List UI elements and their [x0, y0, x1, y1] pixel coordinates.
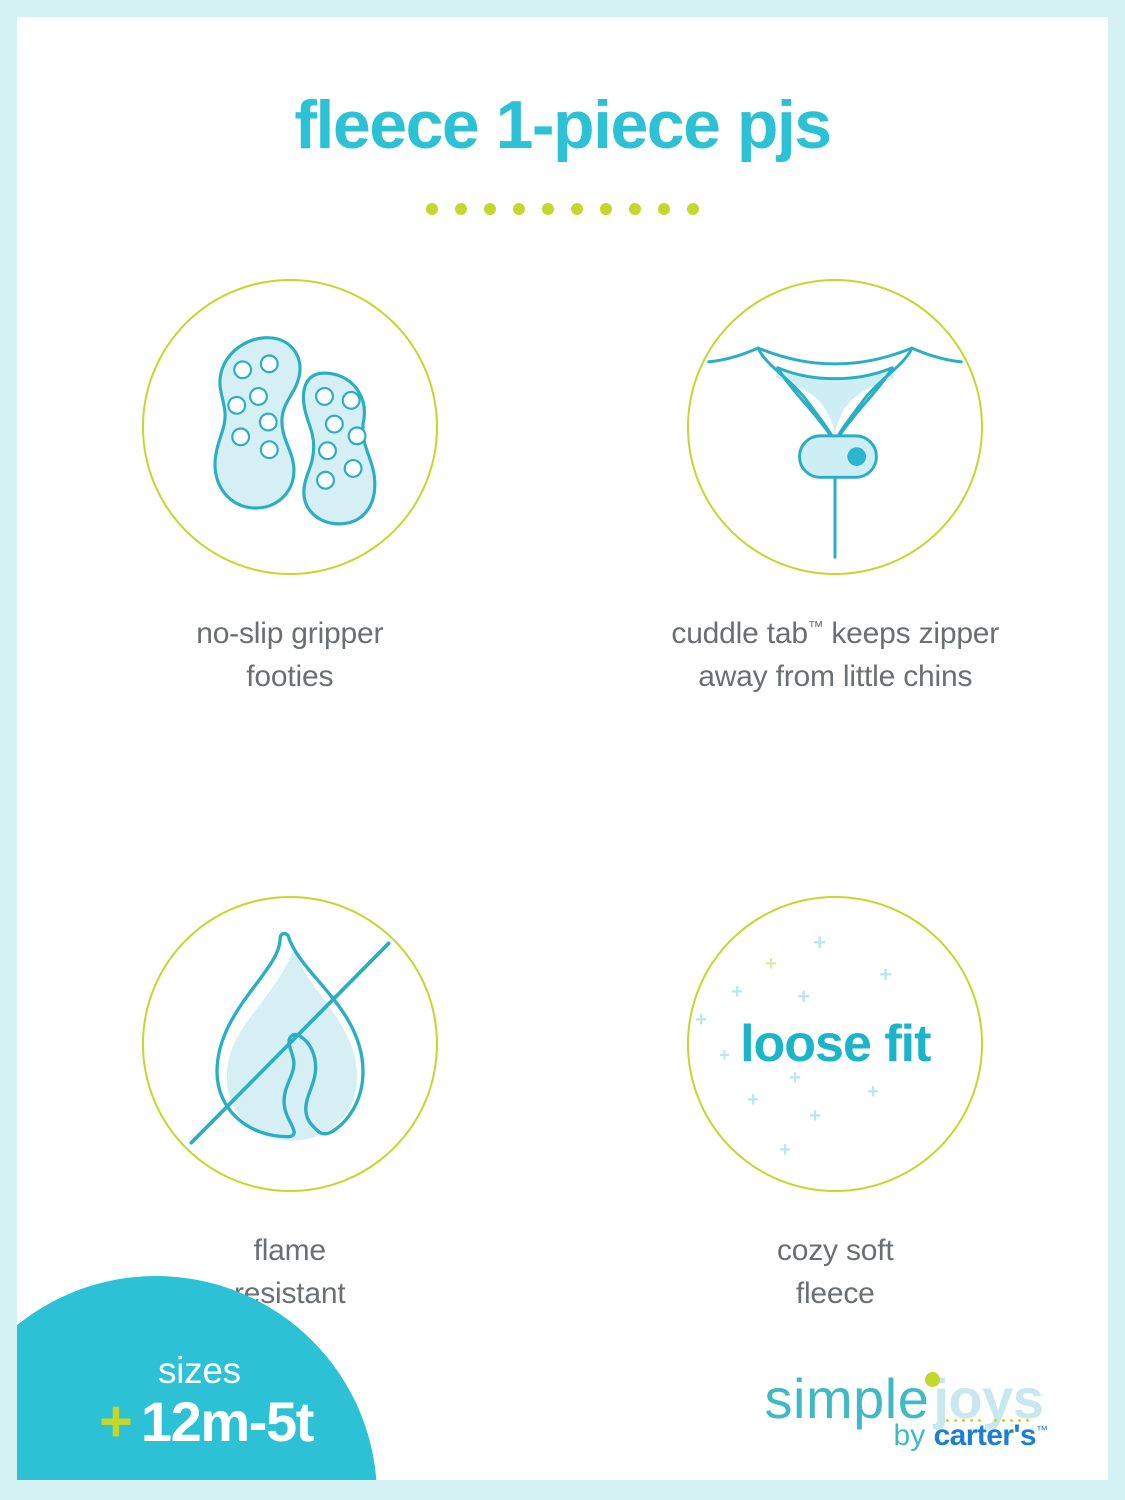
divider-dot	[513, 203, 525, 215]
sparkle-plus-icon: +	[809, 1106, 821, 1126]
gripper-footies-icon	[144, 279, 436, 575]
divider-dot	[600, 203, 612, 215]
divider-dot	[426, 203, 438, 215]
feature-caption: no-slip gripper footies	[196, 613, 383, 698]
divider-dot	[571, 203, 583, 215]
sizes-badge: sizes + 12m-5t	[99, 1352, 399, 1451]
divider-dots	[17, 203, 1108, 215]
feature-caption-line2: footies	[196, 656, 383, 699]
feature-caption-line1: flame	[234, 1230, 346, 1273]
feature-cell-no-slip-gripper-footies: no-slip gripper footies	[17, 279, 563, 698]
sparkle-plus-icon: +	[695, 1010, 707, 1030]
feature-icon-circle	[142, 279, 438, 575]
sizes-label: sizes	[158, 1352, 399, 1389]
brand-logo: simplejoys by carter's™	[754, 1371, 1054, 1451]
poster-root: fleece 1-piece pjs	[0, 0, 1125, 1500]
feature-row: no-slip gripper footies	[17, 279, 1108, 698]
sparkle-plus-icon: +	[731, 982, 743, 1002]
feature-caption: cuddle tab™ keeps zipper away from littl…	[671, 613, 999, 698]
sparkle-plus-icon: +	[747, 1090, 759, 1110]
sparkle-plus-icon: +	[765, 954, 777, 974]
sizes-range: 12m-5t	[141, 1394, 313, 1450]
feature-cell-cozy-soft-fleece: + + + + + + + + + + + + loose fit	[563, 896, 1109, 1315]
sparkle-plus-icon: +	[879, 964, 892, 986]
feature-icon-circle	[687, 279, 983, 575]
sparkle-plus-icon: +	[797, 986, 810, 1008]
loose-fit-label: loose fit	[740, 1014, 930, 1074]
feature-icon-circle	[142, 896, 438, 1192]
divider-dot	[629, 203, 641, 215]
plus-icon: +	[99, 1393, 133, 1451]
poster-card: fleece 1-piece pjs	[17, 17, 1108, 1480]
feature-caption-line1: cuddle tab™ keeps zipper	[671, 613, 999, 656]
feature-grid: no-slip gripper footies	[17, 279, 1108, 1315]
logo-wordmark: simplejoys	[754, 1371, 1054, 1427]
feature-caption-line2: away from little chins	[671, 656, 999, 699]
sparkle-plus-icon: +	[813, 932, 826, 954]
divider-dot	[687, 203, 699, 215]
sparkle-plus-icon: +	[719, 1046, 730, 1064]
cuddle-tab-collar-icon	[689, 279, 981, 575]
logo-simple-text: simple	[765, 1367, 930, 1430]
feature-row: flame resistant + + + + + + + +	[17, 896, 1108, 1315]
logo-underline-dots-left	[946, 1419, 981, 1422]
no-flame-icon	[144, 896, 436, 1192]
logo-underline-dots-right	[994, 1419, 1029, 1422]
divider-dot	[658, 203, 670, 215]
feature-caption: cozy soft fleece	[777, 1230, 894, 1315]
divider-dot	[542, 203, 554, 215]
divider-dot	[484, 203, 496, 215]
divider-dot	[455, 203, 467, 215]
sparkle-plus-icon: +	[779, 1140, 791, 1160]
sizes-range-row: + 12m-5t	[99, 1393, 399, 1451]
page-title: fleece 1-piece pjs	[17, 91, 1108, 159]
feature-cell-cuddle-tab: cuddle tab™ keeps zipper away from littl…	[563, 279, 1109, 698]
feature-caption-line1-text: cuddle tab™ keeps zipper	[671, 617, 999, 650]
sparkle-plus-icon: +	[867, 1082, 879, 1102]
feature-caption-line2: fleece	[777, 1273, 894, 1316]
feature-icon-circle: + + + + + + + + + + + + loose fit	[687, 896, 983, 1192]
logo-j-dot-icon	[925, 1372, 940, 1387]
feature-caption-line1: no-slip gripper	[196, 613, 383, 656]
feature-cell-flame-resistant: flame resistant	[17, 896, 563, 1315]
feature-caption-line1: cozy soft	[777, 1230, 894, 1273]
